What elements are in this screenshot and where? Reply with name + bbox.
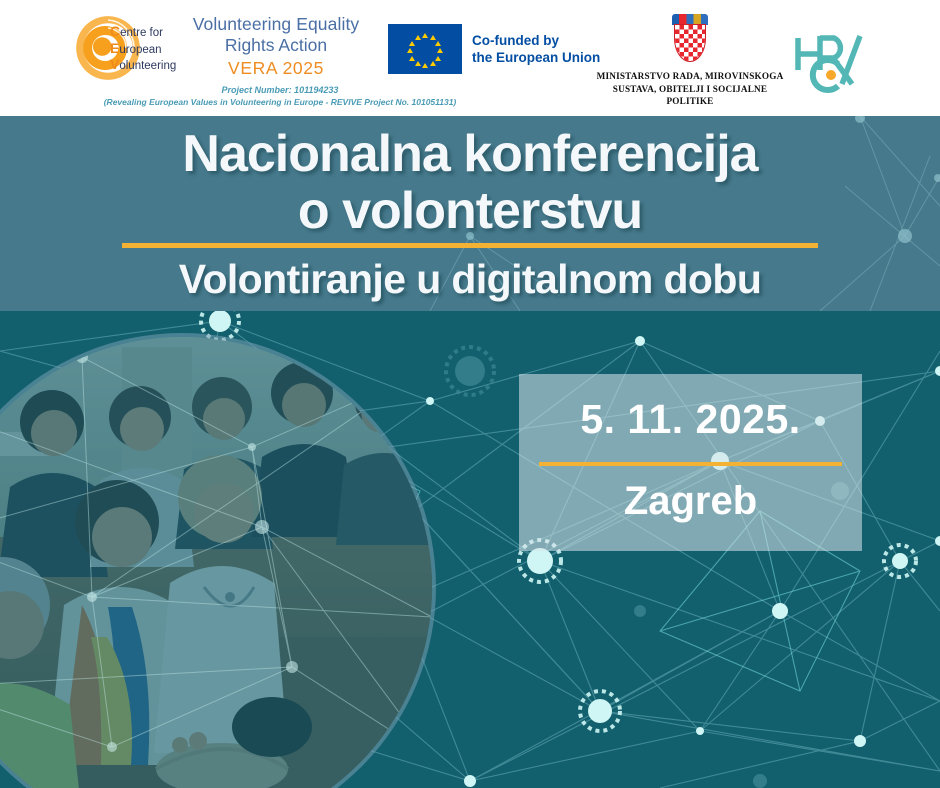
croatian-coat-of-arms-icon (670, 14, 710, 64)
vera-line-1: Volunteering Equality (176, 14, 376, 35)
cev-line2: uropean (119, 44, 161, 56)
ministry-logo: MINISTARSTVO RADA, MIROVINSKOGA SUSTAVA,… (592, 14, 788, 108)
hrcv-logo-icon (790, 22, 882, 94)
event-details-panel: 5. 11. 2025. Zagreb (519, 374, 862, 551)
eu-line-1: Co-funded by (472, 32, 600, 49)
cev-line3: olunteering (119, 60, 176, 72)
cev-line1: entre for (120, 27, 163, 39)
event-date: 5. 11. 2025. (519, 396, 862, 443)
eu-flag-icon (388, 24, 462, 74)
audience-photo (0, 337, 432, 788)
vera-line-3: VERA 2025 (176, 57, 376, 79)
title-line-2: o volonterstvu (0, 183, 940, 240)
cev-e-initial: E (110, 40, 119, 56)
vera-programme-title: Volunteering Equality Rights Action VERA… (176, 14, 376, 79)
sponsor-header: Centre for European Volunteering Volunte… (0, 0, 940, 116)
cev-logo: Centre for European Volunteering (72, 8, 190, 88)
poster-title: Nacionalna konferencija o volonterstvu (0, 126, 940, 240)
title-line-1: Nacionalna konferencija (0, 126, 940, 183)
project-subtitle: (Revealing European Values in Volunteeri… (0, 96, 560, 108)
project-number: Project Number: 101194233 (0, 84, 560, 96)
conference-poster: Centre for European Volunteering Volunte… (0, 0, 940, 788)
poster-subtitle: Volontiranje u digitalnom dobu (0, 256, 940, 303)
photo-network-overlay (0, 337, 432, 788)
eu-cofunding-logo: Co-funded by the European Union (388, 24, 600, 74)
event-details-divider (539, 462, 842, 466)
eu-funding-text: Co-funded by the European Union (472, 32, 600, 66)
project-number-block: Project Number: 101194233 (Revealing Eur… (0, 84, 560, 108)
ministry-line-2: SUSTAVA, OBITELJI I SOCIJALNE POLITIKE (592, 83, 788, 108)
eu-line-2: the European Union (472, 49, 600, 66)
ministry-name: MINISTARSTVO RADA, MIROVINSKOGA SUSTAVA,… (592, 70, 788, 108)
cev-v-initial: V (110, 56, 119, 72)
vera-line-2: Rights Action (176, 35, 376, 56)
cev-c-initial: C (110, 23, 120, 39)
ministry-line-1: MINISTARSTVO RADA, MIROVINSKOGA (592, 70, 788, 83)
event-city: Zagreb (519, 479, 862, 524)
title-divider (122, 243, 818, 248)
cev-wordmark: Centre for European Volunteering (110, 24, 176, 74)
